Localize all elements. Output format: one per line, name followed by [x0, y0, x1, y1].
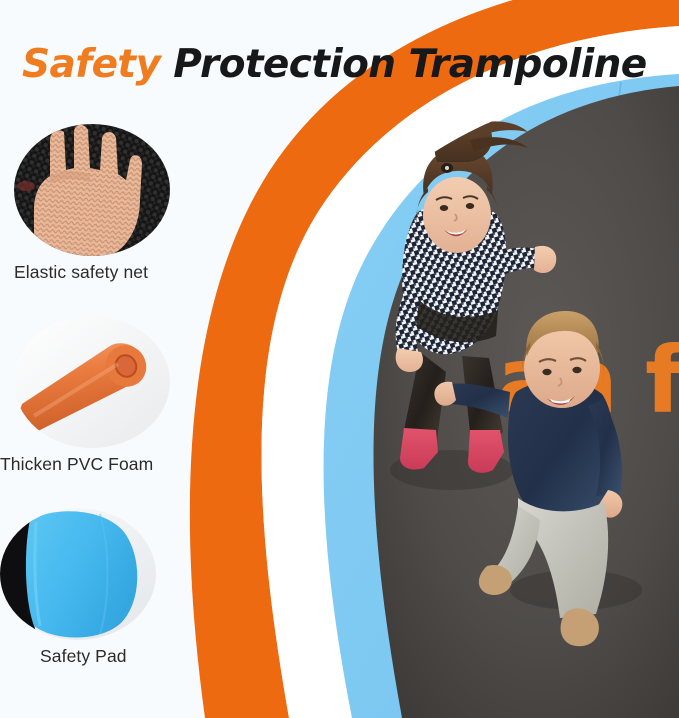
feature-safety-pad: Safety Pad	[14, 508, 156, 667]
safety-pad-thumbnail	[0, 508, 156, 640]
feature-label-elastic-safety-net: Elastic safety net	[14, 262, 170, 283]
title-highlight-word: Safety	[22, 42, 160, 87]
product-feature-image: a a f	[0, 0, 679, 718]
thicken-pvc-foam-thumbnail	[14, 316, 170, 448]
page-title: Safety Protection Trampoline	[22, 42, 647, 87]
feature-elastic-safety-net: Elastic safety net	[14, 124, 170, 283]
elastic-safety-net-thumbnail	[14, 124, 170, 256]
feature-label-thicken-pvc-foam: Thicken PVC Foam	[0, 454, 170, 475]
feature-label-safety-pad: Safety Pad	[40, 646, 156, 667]
title-rest: Protection Trampoline	[160, 42, 646, 87]
blue-pad-cover	[26, 511, 137, 637]
svg-text:f: f	[645, 327, 679, 434]
feature-thicken-pvc-foam: Thicken PVC Foam	[14, 316, 170, 475]
